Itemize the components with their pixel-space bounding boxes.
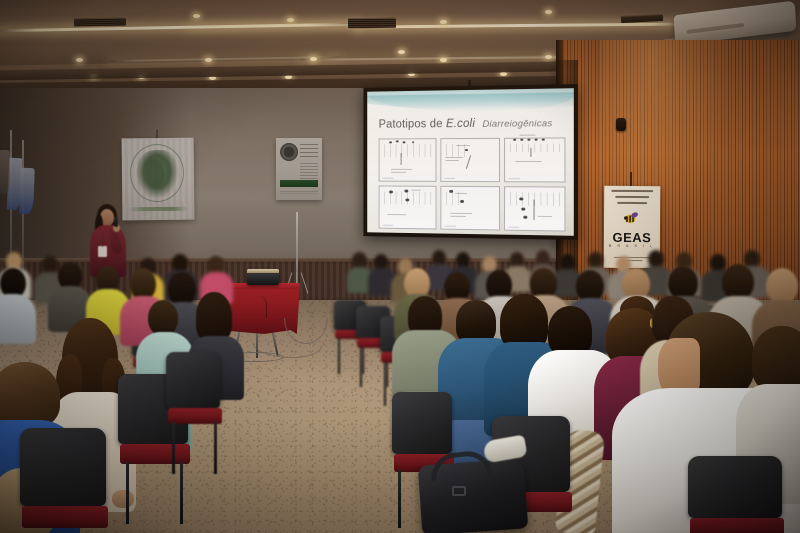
chair-leg bbox=[360, 347, 362, 387]
chair bbox=[166, 352, 222, 476]
diagram-caption bbox=[382, 225, 393, 226]
diagram-panel bbox=[379, 185, 437, 229]
bacteria-icon bbox=[412, 141, 414, 143]
downlight-icon bbox=[193, 14, 200, 18]
bacteria-icon bbox=[460, 200, 464, 203]
chair-seat bbox=[690, 518, 784, 533]
slide-surface: Patotipos de E.coli Diarreiogênicas bbox=[367, 88, 574, 236]
slide-title-species: E.coli bbox=[446, 118, 475, 130]
chair-seat bbox=[22, 506, 108, 528]
data-projector bbox=[247, 272, 279, 285]
epithelium-icon bbox=[508, 192, 561, 206]
bacteria-icon bbox=[389, 190, 393, 193]
projection-screen: Patotipos de E.coli Diarreiogênicas bbox=[363, 84, 578, 240]
downlight-icon bbox=[310, 57, 317, 61]
geas-banner-headline bbox=[608, 190, 656, 204]
bacteria-icon bbox=[404, 190, 408, 193]
diagram-label bbox=[391, 169, 412, 170]
diagram-panel bbox=[504, 137, 565, 182]
epithelium-icon bbox=[444, 192, 464, 205]
slide-title-subtitle: Diarreiogênicas bbox=[482, 118, 552, 130]
slide-title: Patotipos de E.coli Diarreiogênicas bbox=[379, 117, 553, 131]
wall-speaker-icon bbox=[616, 118, 626, 131]
world-map-icon bbox=[136, 150, 179, 198]
arrow-icon bbox=[401, 153, 402, 165]
bacteria-icon bbox=[405, 198, 409, 201]
ceiling-vent bbox=[74, 18, 126, 27]
bacteria-icon bbox=[396, 140, 399, 142]
chair-back bbox=[392, 392, 452, 454]
head-hair bbox=[196, 292, 232, 342]
diagram-caption bbox=[444, 178, 455, 179]
banner-hanger bbox=[630, 172, 632, 187]
chair-leg bbox=[214, 422, 217, 474]
head-hair bbox=[668, 266, 698, 300]
white-banner-with-map bbox=[122, 138, 195, 221]
epithelium-icon bbox=[444, 144, 466, 157]
bag-buckle-icon bbox=[452, 486, 466, 496]
chair-leg bbox=[398, 470, 401, 528]
bacteria-icon bbox=[542, 139, 545, 141]
bacteria-icon bbox=[535, 139, 538, 141]
head-hair bbox=[148, 300, 178, 336]
diagram-label bbox=[515, 161, 542, 162]
downlight-icon bbox=[287, 18, 294, 22]
chair-leg bbox=[126, 462, 129, 524]
head-hair bbox=[168, 272, 196, 306]
ceiling-vent bbox=[348, 18, 396, 28]
bacteria-icon bbox=[521, 208, 525, 211]
diagram-label bbox=[450, 213, 472, 214]
chair bbox=[688, 456, 784, 533]
bacteria-icon bbox=[465, 149, 468, 151]
microphone-icon bbox=[114, 217, 118, 227]
diagram-label bbox=[387, 214, 406, 215]
epithelium-icon bbox=[508, 144, 561, 152]
arrow-icon bbox=[466, 155, 471, 169]
diagram-label bbox=[450, 216, 466, 217]
downlight-icon bbox=[76, 58, 83, 62]
poster-footer-lines bbox=[280, 191, 318, 195]
downlight-icon bbox=[398, 50, 405, 54]
head bbox=[766, 268, 798, 304]
bacteria-icon bbox=[523, 216, 527, 219]
geas-subtitle: B R A S I L bbox=[604, 244, 660, 248]
chair-leg bbox=[338, 338, 340, 374]
diagram-caption bbox=[382, 178, 393, 179]
diagram-label bbox=[445, 157, 463, 158]
diagram-label bbox=[456, 145, 470, 146]
downlight-icon bbox=[545, 10, 552, 14]
bacteria-icon bbox=[403, 141, 406, 143]
diagram-caption bbox=[508, 227, 519, 228]
poster-logo-icon bbox=[280, 143, 298, 161]
diagram-label bbox=[445, 160, 459, 161]
poster-accent-bar bbox=[280, 180, 318, 187]
chair bbox=[20, 428, 108, 533]
diagram-panel bbox=[504, 186, 565, 231]
head-hair bbox=[548, 306, 592, 356]
chair-leg bbox=[172, 422, 175, 474]
slide-diagram-grid bbox=[379, 137, 566, 231]
downlight-icon bbox=[205, 58, 212, 62]
poster-heading-lines bbox=[300, 144, 318, 160]
arrow-icon bbox=[530, 148, 531, 157]
diagram-label bbox=[391, 172, 406, 173]
flag bbox=[0, 150, 10, 194]
bee-icon bbox=[622, 210, 642, 226]
downlight-icon bbox=[440, 58, 447, 62]
diagram-panel bbox=[440, 186, 500, 231]
diagram-panel bbox=[379, 138, 437, 182]
downlight-icon bbox=[440, 20, 447, 24]
epithelium-icon bbox=[382, 144, 432, 157]
diagram-caption bbox=[508, 178, 520, 179]
bacteria-icon bbox=[519, 197, 523, 200]
event-poster bbox=[276, 138, 322, 200]
torso bbox=[0, 294, 36, 344]
bacteria-icon bbox=[527, 139, 530, 141]
presenter-lanyard bbox=[102, 234, 103, 247]
head-hair bbox=[722, 264, 754, 300]
diagram-label bbox=[455, 193, 467, 194]
diagram-label bbox=[519, 135, 535, 136]
chair-back bbox=[166, 352, 220, 408]
head-hair bbox=[752, 326, 800, 392]
bacteria-icon bbox=[449, 190, 453, 193]
diagram-panel bbox=[440, 138, 500, 182]
conference-hall-photo: Patotipos de E.coli Diarreiogênicas bbox=[0, 0, 800, 533]
poster-body-lines bbox=[300, 163, 318, 179]
downlight-icon bbox=[545, 55, 552, 59]
arrow-icon bbox=[534, 200, 535, 220]
downlight-icon bbox=[500, 72, 507, 76]
bacteria-icon bbox=[520, 139, 523, 141]
presenter-badge bbox=[98, 246, 107, 257]
bacteria-icon bbox=[513, 139, 516, 141]
chair-back bbox=[20, 428, 106, 506]
diagram-label bbox=[538, 216, 552, 217]
slide-title-main: Patotipos de bbox=[379, 118, 443, 130]
diagram-caption bbox=[444, 226, 456, 227]
bacteria-icon bbox=[389, 141, 392, 143]
chair-back bbox=[688, 456, 782, 518]
chair-leg bbox=[384, 362, 386, 406]
slide-header-wave-accent bbox=[367, 91, 574, 111]
banner-text-line bbox=[128, 207, 188, 212]
diagram-label bbox=[411, 190, 421, 191]
